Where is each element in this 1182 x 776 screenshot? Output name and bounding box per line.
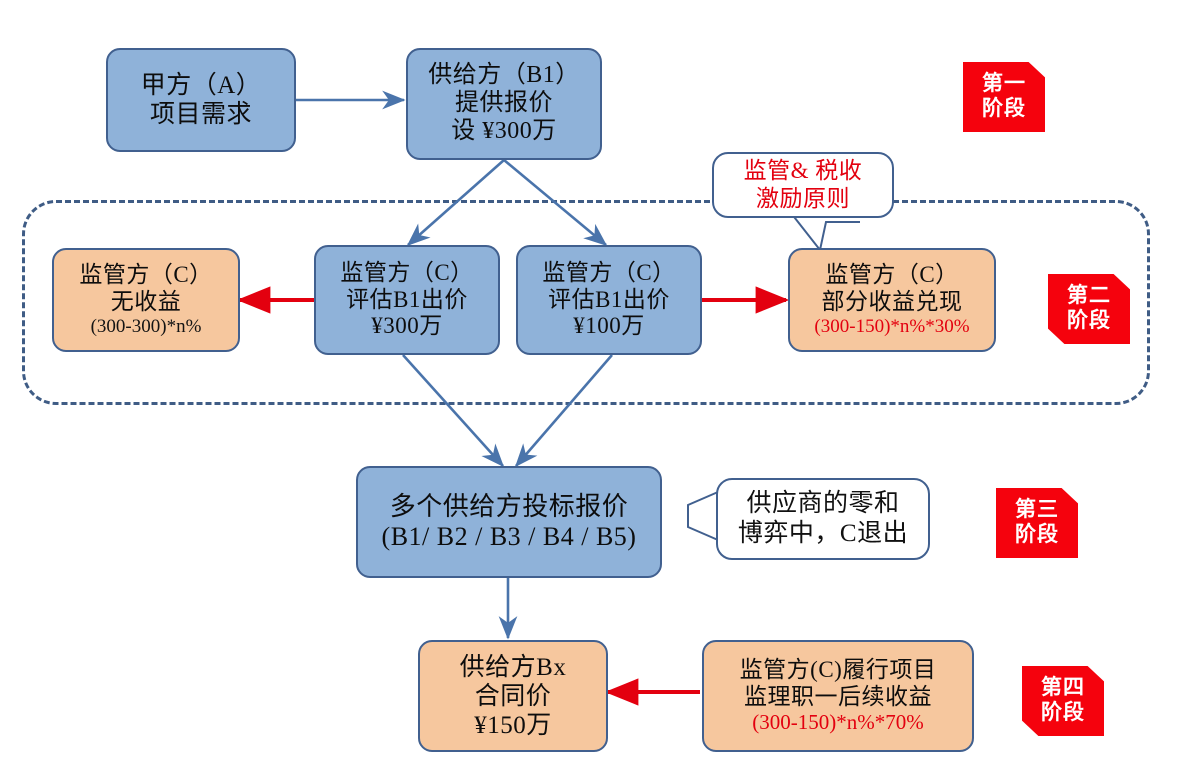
node-supplier-b1-line-1: 供给方（B1） bbox=[428, 62, 580, 90]
node-party-a[interactable]: 甲方（A） 项目需求 bbox=[106, 48, 296, 152]
arrow-b1-to-eval300 bbox=[408, 160, 504, 245]
node-regulator-eval-300[interactable]: 监管方（C） 评估B1出价 ¥300万 bbox=[314, 245, 500, 355]
diagram-canvas: 甲方（A） 项目需求 供给方（B1） 提供报价 设 ¥300万 第一 阶段 监管… bbox=[0, 0, 1182, 776]
node-supplier-bx-contract[interactable]: 供给方Bx 合同价 ¥150万 bbox=[418, 640, 608, 752]
node-party-a-line-1: 甲方（A） bbox=[141, 71, 262, 100]
node-multi-suppliers-bid-line-2: (B1/ B2 / B3 / B4 / B5) bbox=[382, 522, 637, 552]
stage-badge-two-line-1: 第二 bbox=[1067, 284, 1111, 309]
node-regulator-no-gain-line-2: 无收益 bbox=[111, 289, 182, 316]
node-regulator-eval-300-line-2: 评估B1出价 bbox=[346, 287, 468, 314]
callout-regulation-tax-line-2: 激励原则 bbox=[756, 185, 850, 213]
stage-badge-one: 第一 阶段 bbox=[963, 62, 1045, 132]
node-regulator-eval-100-line-1: 监管方（C） bbox=[542, 260, 675, 287]
arrow-eval300-to-multi bbox=[403, 355, 503, 466]
node-party-a-line-2: 项目需求 bbox=[150, 100, 252, 129]
node-regulator-followup[interactable]: 监管方(C)履行项目 监理职一后续收益 (300-150)*n%*70% bbox=[702, 640, 974, 752]
node-supplier-bx-contract-line-2: 合同价 bbox=[475, 682, 552, 711]
node-regulator-partial-gain-line-2: 部分收益兑现 bbox=[822, 289, 963, 316]
node-regulator-partial-gain[interactable]: 监管方（C） 部分收益兑现 (300-150)*n%*30% bbox=[788, 248, 996, 352]
stage-badge-three-line-2: 阶段 bbox=[1015, 523, 1059, 548]
callout-zero-sum-line-1: 供应商的零和 bbox=[746, 489, 899, 519]
node-regulator-no-gain-formula: (300-300)*n% bbox=[91, 316, 202, 338]
stage-badge-four-line-2: 阶段 bbox=[1041, 701, 1085, 726]
stage-badge-two-line-2: 阶段 bbox=[1067, 309, 1111, 334]
node-regulator-eval-100-line-3: ¥100万 bbox=[573, 313, 645, 340]
node-regulator-eval-300-line-3: ¥300万 bbox=[371, 313, 443, 340]
node-regulator-eval-100[interactable]: 监管方（C） 评估B1出价 ¥100万 bbox=[516, 245, 702, 355]
node-supplier-b1[interactable]: 供给方（B1） 提供报价 设 ¥300万 bbox=[406, 48, 602, 160]
node-regulator-partial-gain-formula: (300-150)*n%*30% bbox=[814, 316, 969, 338]
callout-regulation-tax: 监管& 税收 激励原则 bbox=[712, 152, 894, 218]
node-supplier-b1-line-2: 提供报价 bbox=[455, 90, 553, 118]
node-regulator-eval-300-line-1: 监管方（C） bbox=[340, 260, 473, 287]
node-supplier-bx-contract-line-1: 供给方Bx bbox=[460, 653, 567, 682]
stage-badge-one-line-2: 阶段 bbox=[982, 97, 1026, 122]
node-regulator-no-gain-line-1: 监管方（C） bbox=[79, 262, 212, 289]
stage-badge-four-line-1: 第四 bbox=[1041, 676, 1085, 701]
callout-tail-zero-sum bbox=[688, 492, 718, 540]
stage-badge-one-line-1: 第一 bbox=[982, 72, 1026, 97]
node-regulator-eval-100-line-2: 评估B1出价 bbox=[548, 287, 670, 314]
arrow-b1-to-eval100 bbox=[504, 160, 606, 245]
node-regulator-followup-formula: (300-150)*n%*70% bbox=[752, 710, 923, 734]
stage-badge-three-line-1: 第三 bbox=[1015, 498, 1059, 523]
callout-zero-sum: 供应商的零和 博弈中，C退出 bbox=[716, 478, 930, 560]
node-supplier-bx-contract-line-3: ¥150万 bbox=[474, 711, 552, 740]
stage-badge-two: 第二 阶段 bbox=[1048, 274, 1130, 344]
node-regulator-followup-line-2: 监理职一后续收益 bbox=[744, 684, 932, 711]
node-regulator-partial-gain-line-1: 监管方（C） bbox=[825, 262, 958, 289]
stage-badge-four: 第四 阶段 bbox=[1022, 666, 1104, 736]
stage-badge-three: 第三 阶段 bbox=[996, 488, 1078, 558]
node-regulator-no-gain[interactable]: 监管方（C） 无收益 (300-300)*n% bbox=[52, 248, 240, 352]
callout-regulation-tax-line-1: 监管& 税收 bbox=[744, 157, 863, 185]
node-supplier-b1-line-3: 设 ¥300万 bbox=[451, 118, 557, 146]
arrow-eval100-to-multi bbox=[516, 355, 612, 466]
node-multi-suppliers-bid-line-1: 多个供给方投标报价 bbox=[390, 492, 629, 522]
node-regulator-followup-line-1: 监管方(C)履行项目 bbox=[740, 657, 937, 684]
callout-zero-sum-line-2: 博弈中，C退出 bbox=[738, 519, 908, 549]
node-multi-suppliers-bid[interactable]: 多个供给方投标报价 (B1/ B2 / B3 / B4 / B5) bbox=[356, 466, 662, 578]
